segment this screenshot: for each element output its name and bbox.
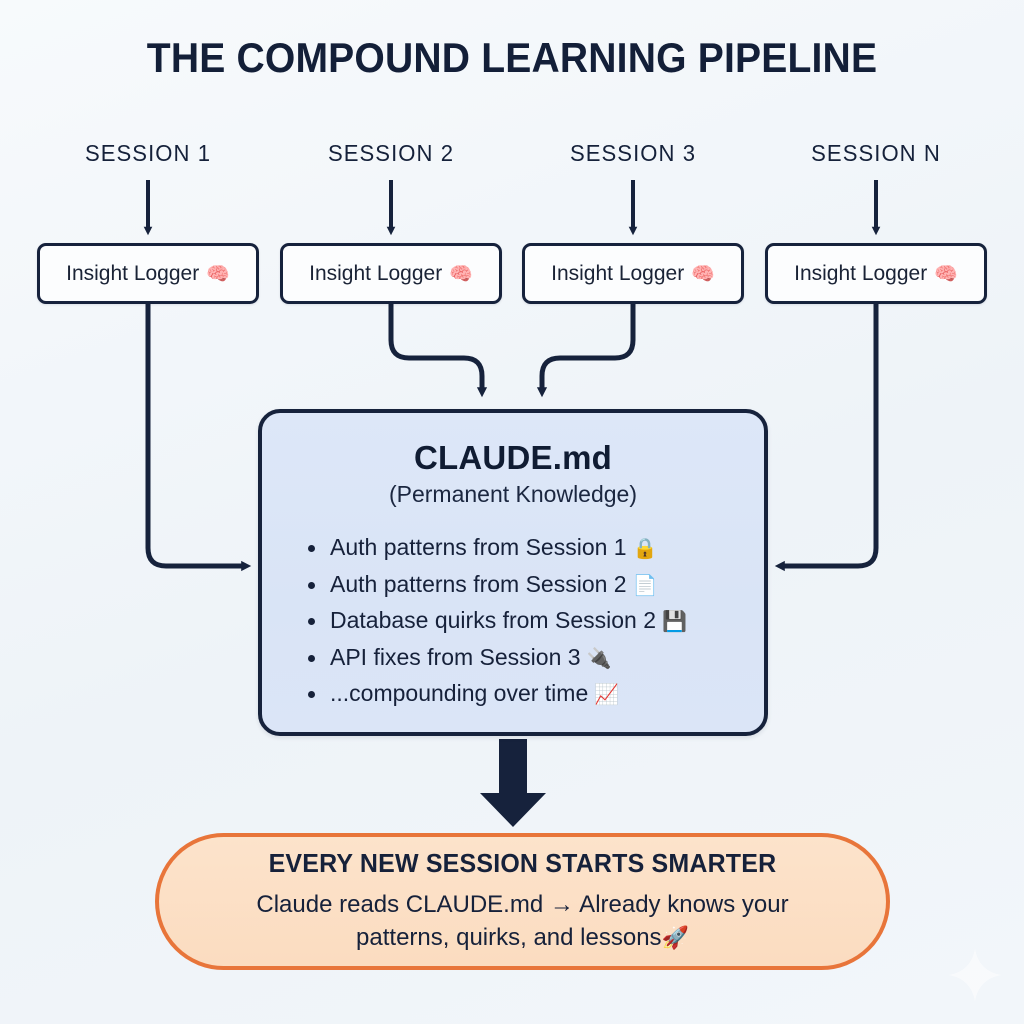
insight-logger-box-n[interactable]: Insight Logger 🧠 xyxy=(765,243,987,304)
claude-md-subtitle: (Permanent Knowledge) xyxy=(262,481,764,508)
connector-logger-n-to-claude xyxy=(780,304,876,566)
insight-logger-label-2: Insight Logger xyxy=(309,262,442,286)
lock-icon: 🔒 xyxy=(633,536,658,560)
insight-logger-box-1[interactable]: Insight Logger 🧠 xyxy=(37,243,259,304)
arrow-claude-to-outcome xyxy=(480,739,546,827)
list-item: API fixes from Session 3🔌 xyxy=(308,640,764,677)
outcome-line-1: Claude reads CLAUDE.md → Already knows y… xyxy=(256,888,788,921)
outcome-banner[interactable]: EVERY NEW SESSION STARTS SMARTER Claude … xyxy=(155,833,890,970)
brain-icon: 🧠 xyxy=(691,262,715,285)
claude-md-title: CLAUDE.md xyxy=(262,439,764,477)
connector-logger-3-to-claude xyxy=(542,304,633,392)
connector-logger-1-to-claude xyxy=(148,304,246,566)
knowledge-list: Auth patterns from Session 1🔒 Auth patte… xyxy=(262,530,764,713)
insight-logger-box-2[interactable]: Insight Logger 🧠 xyxy=(280,243,502,304)
list-item: ...compounding over time📈 xyxy=(308,676,764,713)
insight-logger-label-1: Insight Logger xyxy=(66,262,199,286)
outcome-line-2-wrap: patterns, quirks, and lessons🚀 xyxy=(356,921,689,955)
session-label-n: SESSION N xyxy=(769,140,982,167)
outcome-line-2: patterns, quirks, and lessons xyxy=(356,924,662,951)
page-icon: 📄 xyxy=(633,573,658,597)
list-item: Auth patterns from Session 1🔒 xyxy=(308,530,764,567)
chart-increasing-icon: 📈 xyxy=(594,682,619,706)
brain-icon: 🧠 xyxy=(934,262,958,285)
session-label-2: SESSION 2 xyxy=(284,140,497,167)
knowledge-item-text-3: Database quirks from Session 2 xyxy=(330,607,656,633)
floppy-disk-icon: 💾 xyxy=(662,609,687,633)
session-label-1: SESSION 1 xyxy=(41,140,254,167)
insight-logger-label-n: Insight Logger xyxy=(794,262,927,286)
insight-logger-label-3: Insight Logger xyxy=(551,262,684,286)
knowledge-item-text-4: API fixes from Session 3 xyxy=(330,644,581,670)
outcome-headline: EVERY NEW SESSION STARTS SMARTER xyxy=(269,848,777,879)
claude-md-card[interactable]: CLAUDE.md (Permanent Knowledge) Auth pat… xyxy=(258,409,768,736)
page-title: THE COMPOUND LEARNING PIPELINE xyxy=(36,34,988,82)
sparkle-watermark xyxy=(946,946,1004,1004)
knowledge-item-text-1: Auth patterns from Session 1 xyxy=(330,534,627,560)
list-item: Auth patterns from Session 2📄 xyxy=(308,567,764,604)
plug-icon: 🔌 xyxy=(587,646,612,670)
rocket-icon: 🚀 xyxy=(662,926,689,951)
insight-logger-box-3[interactable]: Insight Logger 🧠 xyxy=(522,243,744,304)
knowledge-item-text-5: ...compounding over time xyxy=(330,680,588,706)
session-label-3: SESSION 3 xyxy=(526,140,739,167)
knowledge-item-text-2: Auth patterns from Session 2 xyxy=(330,571,627,597)
diagram-canvas: THE COMPOUND LEARNING PIPELINE SESSION 1… xyxy=(0,0,1024,1024)
list-item: Database quirks from Session 2💾 xyxy=(308,603,764,640)
brain-icon: 🧠 xyxy=(449,262,473,285)
brain-icon: 🧠 xyxy=(206,262,230,285)
connector-logger-2-to-claude xyxy=(391,304,482,392)
